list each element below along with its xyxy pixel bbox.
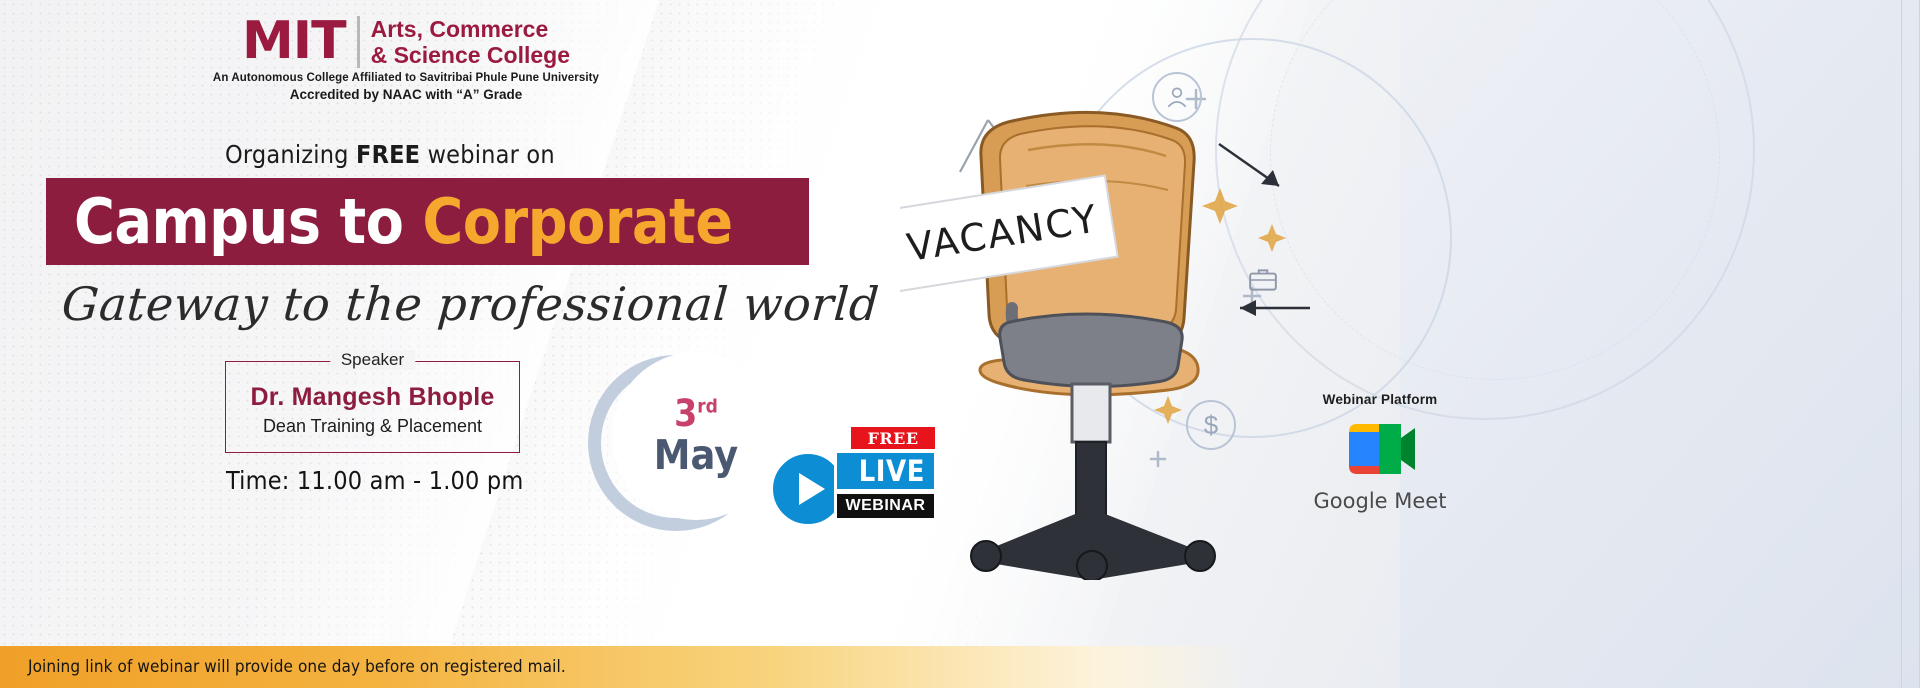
- chair-seat: [1000, 314, 1182, 387]
- chair-wheel-center: [1077, 551, 1107, 580]
- organizing-line: Organizing FREE webinar on: [225, 140, 555, 169]
- logo-affiliation: An Autonomous College Affiliated to Savi…: [196, 72, 616, 84]
- dollar-icon: $: [1186, 400, 1236, 450]
- google-meet-icon: [1343, 418, 1417, 480]
- date-day-wrap: 3rd: [674, 395, 718, 432]
- footer-note: Joining link of webinar will provide one…: [0, 657, 566, 677]
- date-badge: 3rd May: [612, 352, 780, 520]
- arrow-down-right-icon: [1215, 140, 1295, 200]
- webinar-banner: MIT Arts, Commerce & Science College An …: [0, 0, 1920, 688]
- title-band: Campus to Corporate: [46, 178, 809, 265]
- platform-name: Google Meet: [1300, 489, 1460, 513]
- logo-college-name-line2: & Science College: [371, 42, 570, 68]
- webinar-tagline: Gateway to the professional world: [60, 277, 881, 331]
- date-day: 3: [674, 392, 697, 435]
- organizing-prefix: Organizing: [225, 140, 356, 169]
- platform-label: Webinar Platform: [1300, 392, 1460, 407]
- date-month: May: [654, 434, 738, 477]
- webinar-title-part1: Campus to: [74, 185, 422, 258]
- logo-accreditation: Accredited by NAAC with “A” Grade: [196, 87, 616, 102]
- webinar-time: Time: 11.00 am - 1.00 pm: [226, 466, 524, 495]
- chair-base: [971, 508, 1215, 580]
- speaker-name: Dr. Mangesh Bhople: [226, 383, 519, 412]
- date-ordinal: rd: [697, 396, 718, 418]
- organizing-free-word: FREE: [356, 140, 420, 169]
- logo-college-name-line1: Arts, Commerce: [371, 16, 570, 42]
- webinar-platform: Webinar Platform Google Meet: [1300, 392, 1460, 513]
- user-avatar-icon: [1152, 72, 1202, 122]
- chair-column: [1072, 384, 1110, 516]
- organizing-suffix: webinar on: [420, 140, 555, 169]
- webinar-title: Campus to Corporate: [46, 191, 733, 253]
- edge-line-left: [1901, 0, 1902, 688]
- person-glyph: [1164, 84, 1190, 110]
- college-logo: MIT Arts, Commerce & Science College An …: [196, 16, 616, 102]
- logo-acronym: MIT: [242, 17, 346, 66]
- chair-wheel-right: [1185, 541, 1215, 571]
- logo-college-name: Arts, Commerce & Science College: [371, 16, 570, 68]
- logo-primary-row: MIT Arts, Commerce & Science College: [196, 16, 616, 68]
- speaker-box: Speaker Dr. Mangesh Bhople Dean Training…: [225, 361, 520, 453]
- chair-wheel-left: [971, 541, 1001, 571]
- speaker-role: Dean Training & Placement: [226, 416, 519, 437]
- google-meet-glyph: [1343, 418, 1417, 480]
- dollar-glyph: $: [1204, 410, 1218, 441]
- arrow-left-icon: [1228, 288, 1314, 328]
- play-triangle-icon: [799, 473, 825, 505]
- logo-divider: [357, 16, 360, 68]
- speaker-label: Speaker: [330, 350, 415, 370]
- footer-bar: Joining link of webinar will provide one…: [0, 646, 1250, 688]
- webinar-title-part2: Corporate: [422, 185, 732, 258]
